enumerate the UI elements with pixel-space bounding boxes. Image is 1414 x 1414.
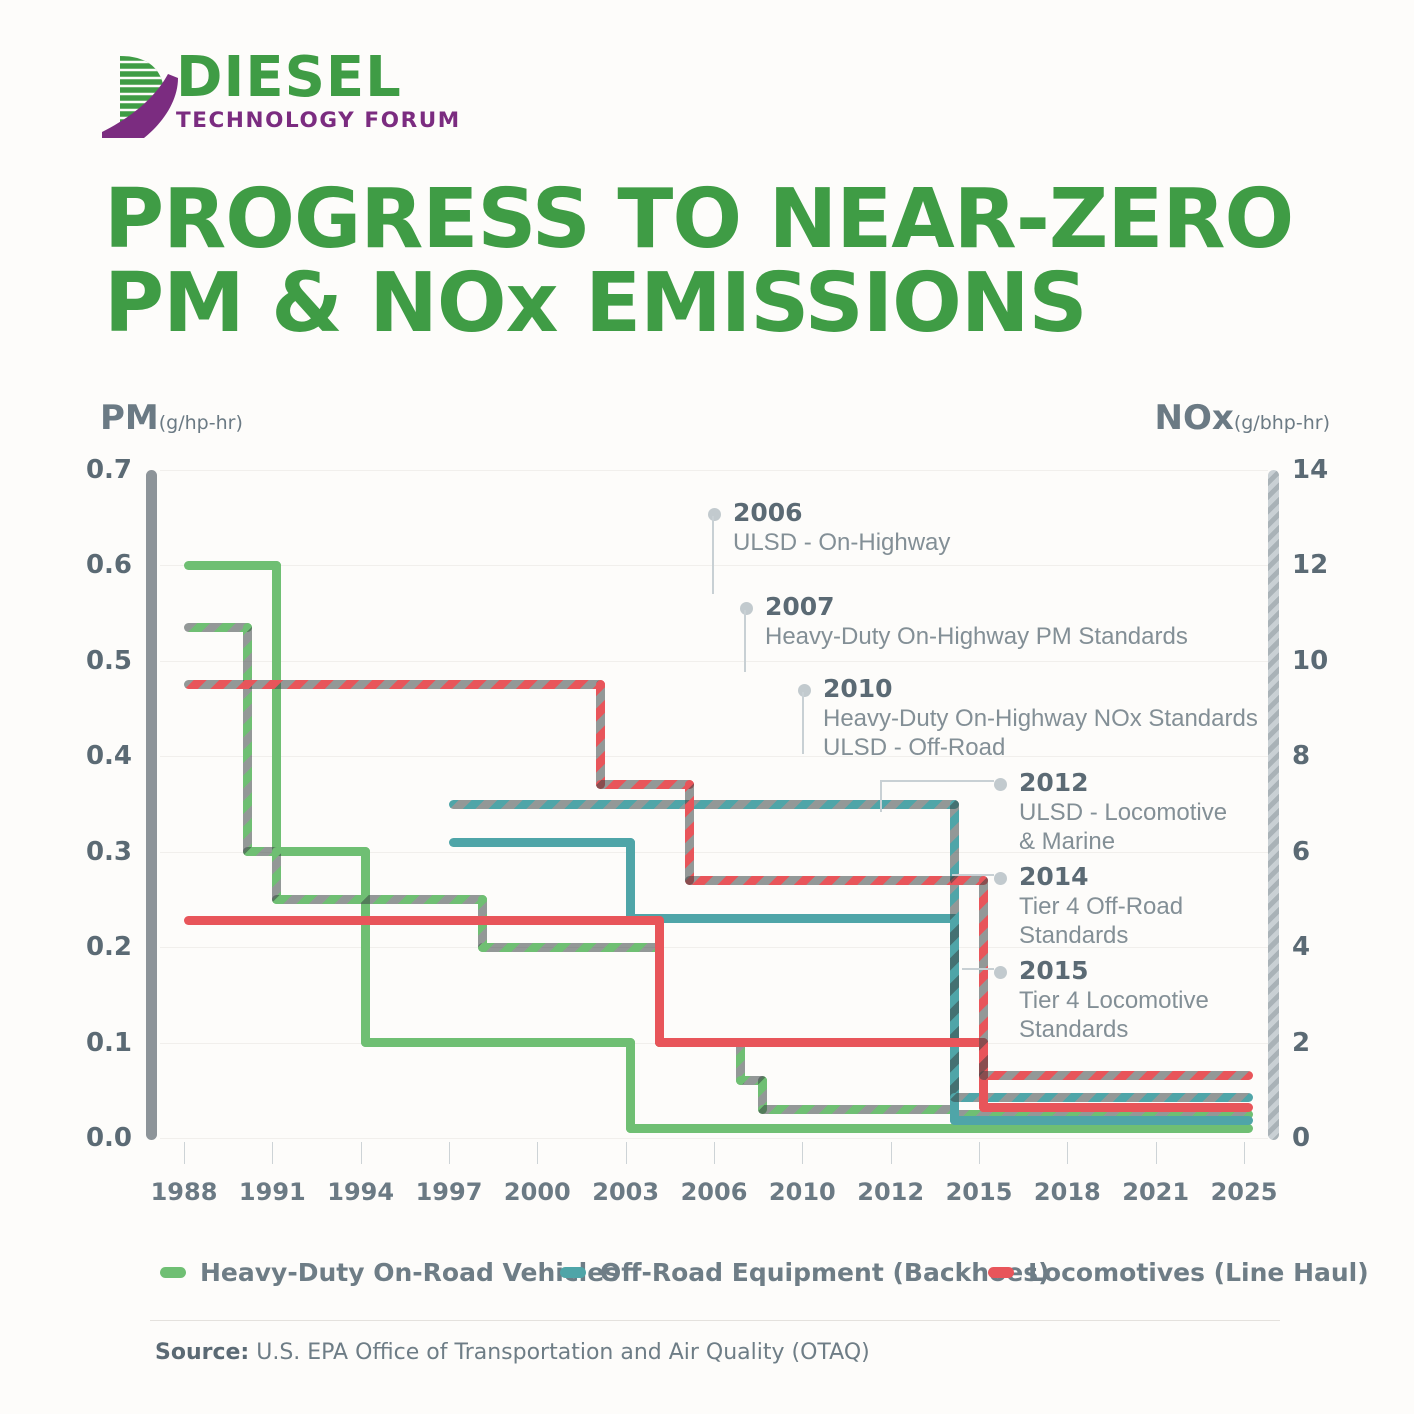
- x-tick-label: 1991: [239, 1178, 306, 1206]
- x-axis-tick: [1156, 1142, 1157, 1164]
- series-segment-horizontal: [655, 1038, 988, 1047]
- annotation-description: Heavy-Duty On-Highway PM Standards: [765, 622, 1188, 651]
- y-tick-label-right: 14: [1292, 455, 1328, 485]
- series-segment-horizontal: [626, 914, 959, 923]
- annotation-leader-line: [952, 874, 994, 876]
- series-segment-horizontal: [184, 680, 605, 689]
- brand-name-primary: DIESEL: [176, 50, 461, 106]
- title-line-1: PROGRESS TO NEAR-ZERO: [104, 172, 1293, 267]
- y-tick-label-right: 0: [1292, 1123, 1310, 1153]
- series-segment-horizontal: [184, 623, 252, 632]
- x-axis-tick: [1244, 1142, 1245, 1164]
- series-segment-horizontal: [979, 1071, 1253, 1080]
- x-tick-label: 1997: [416, 1178, 483, 1206]
- page-title: PROGRESS TO NEAR-ZERO PM & NOx EMISSIONS: [104, 178, 1334, 346]
- x-tick-label: 2018: [1034, 1178, 1101, 1206]
- diesel-logo-mark: [98, 52, 182, 138]
- y-tick-label-left: 0.4: [86, 741, 132, 771]
- y-axis-right: [1268, 470, 1279, 1140]
- series-segment-vertical: [626, 838, 635, 923]
- series-segment-horizontal: [184, 916, 664, 925]
- series-segment-horizontal: [184, 561, 281, 570]
- annotation-description-line: Heavy-Duty On-Highway NOx Standards: [823, 704, 1258, 733]
- footer-divider: [150, 1320, 1280, 1321]
- y-axis-left: [146, 470, 157, 1140]
- brand-logo: DIESEL TECHNOLOGY FORUM: [98, 48, 528, 144]
- x-axis-tick: [979, 1142, 980, 1164]
- annotation-leader-line: [712, 516, 714, 594]
- nox-axis-header: NOx(g/bhp-hr): [1155, 398, 1330, 438]
- x-axis-tick: [449, 1142, 450, 1164]
- source-note: Source: U.S. EPA Office of Transportatio…: [155, 1340, 870, 1365]
- legend-label: Locomotives (Line Haul): [1028, 1258, 1369, 1287]
- y-tick-label-left: 0.3: [86, 837, 132, 867]
- y-tick-label-left: 0.5: [86, 646, 132, 676]
- pm-axis-header: PM(g/hp-hr): [100, 398, 243, 438]
- x-tick-label: 2015: [946, 1178, 1013, 1206]
- legend-label: Off-Road Equipment (Backhoes): [600, 1258, 1050, 1287]
- annotation-description: ULSD - Locomotive& Marine: [1019, 798, 1227, 856]
- annotation-description: Tier 4 LocomotiveStandards: [1019, 986, 1209, 1044]
- series-segment-vertical: [272, 561, 281, 856]
- x-tick-label: 2006: [681, 1178, 748, 1206]
- y-tick-label-left: 0.0: [86, 1123, 132, 1153]
- gridline: [160, 470, 1268, 471]
- annotation-description: Tier 4 Off-RoadStandards: [1019, 892, 1183, 950]
- annotation-dot-icon: [798, 684, 811, 697]
- annotation-dot-icon: [994, 778, 1007, 791]
- series-segment-vertical: [655, 916, 664, 1047]
- x-axis-tick: [272, 1142, 273, 1164]
- gridline: [160, 661, 1268, 662]
- series-segment-horizontal: [979, 1103, 1253, 1112]
- y-tick-label-right: 4: [1292, 932, 1310, 962]
- x-axis-tick: [361, 1142, 362, 1164]
- annotation-year: 2015: [1019, 956, 1089, 985]
- legend-swatch-icon: [560, 1267, 586, 1278]
- series-segment-horizontal: [478, 943, 664, 952]
- series-segment-vertical: [685, 780, 694, 884]
- annotation-year: 2007: [765, 592, 835, 621]
- series-segment-horizontal: [758, 1105, 958, 1114]
- annotation-year: 2006: [733, 498, 803, 527]
- legend-item[interactable]: Heavy-Duty On-Road Vehicles: [160, 1258, 619, 1287]
- annotation-dot-icon: [740, 602, 753, 615]
- legend-item[interactable]: Off-Road Equipment (Backhoes): [560, 1258, 1050, 1287]
- annotation-dot-icon: [994, 966, 1007, 979]
- brand-name-secondary: TECHNOLOGY FORUM: [176, 109, 461, 133]
- series-segment-horizontal: [626, 1124, 1253, 1133]
- annotation-description-line: ULSD - Locomotive: [1019, 798, 1227, 827]
- x-tick-label: 2010: [769, 1178, 836, 1206]
- annotation-leader-line: [744, 610, 746, 672]
- source-text: U.S. EPA Office of Transportation and Ai…: [256, 1340, 870, 1365]
- annotation-description-line: Tier 4 Locomotive: [1019, 986, 1209, 1015]
- series-segment-horizontal: [361, 1038, 635, 1047]
- x-tick-label: 2021: [1122, 1178, 1189, 1206]
- x-tick-label: 2012: [857, 1178, 924, 1206]
- nox-label: NOx: [1155, 398, 1234, 438]
- annotation-description-line: & Marine: [1019, 827, 1227, 856]
- annotation-leader-line: [962, 968, 994, 970]
- x-tick-label: 1988: [151, 1178, 218, 1206]
- series-segment-vertical: [361, 847, 370, 1047]
- series-segment-horizontal: [449, 800, 959, 809]
- y-tick-label-right: 12: [1292, 550, 1328, 580]
- y-tick-label-right: 2: [1292, 1028, 1310, 1058]
- series-segment-horizontal: [449, 838, 635, 847]
- x-tick-label: 2025: [1211, 1178, 1278, 1206]
- y-tick-label-right: 8: [1292, 741, 1310, 771]
- y-tick-label-right: 10: [1292, 646, 1328, 676]
- nox-units: (g/bhp-hr): [1234, 412, 1330, 434]
- x-axis-tick: [626, 1142, 627, 1164]
- annotation-description-line: Heavy-Duty On-Highway PM Standards: [765, 622, 1188, 651]
- gridline: [160, 1138, 1268, 1139]
- annotation-description-line: Standards: [1019, 921, 1183, 950]
- annotation-description-line: Tier 4 Off-Road: [1019, 892, 1183, 921]
- series-segment-vertical: [243, 623, 252, 856]
- y-tick-label-left: 0.7: [86, 455, 132, 485]
- x-axis-tick: [184, 1142, 185, 1164]
- x-axis-tick: [1067, 1142, 1068, 1164]
- source-label: Source:: [155, 1340, 249, 1365]
- x-axis-tick: [802, 1142, 803, 1164]
- x-axis-tick: [891, 1142, 892, 1164]
- y-tick-label-left: 0.6: [86, 550, 132, 580]
- annotation-leader-line: [880, 780, 882, 812]
- series-segment-horizontal: [950, 1116, 1253, 1125]
- series-segment-vertical: [596, 680, 605, 789]
- annotation-description: ULSD - On-Highway: [733, 528, 950, 557]
- x-axis-tick: [714, 1142, 715, 1164]
- x-axis-tick: [537, 1142, 538, 1164]
- series-segment-horizontal: [596, 780, 693, 789]
- y-tick-label-left: 0.1: [86, 1028, 132, 1058]
- x-tick-label: 1994: [327, 1178, 394, 1206]
- annotation-dot-icon: [708, 508, 721, 521]
- legend-swatch-icon: [160, 1267, 186, 1278]
- title-line-2: PM & NOx EMISSIONS: [104, 262, 1334, 346]
- chart-legend: Heavy-Duty On-Road VehiclesOff-Road Equi…: [160, 1258, 1280, 1298]
- annotation-dot-icon: [994, 872, 1007, 885]
- series-segment-horizontal: [272, 847, 369, 856]
- annotation-year: 2012: [1019, 768, 1089, 797]
- annotation-year: 2010: [823, 674, 893, 703]
- pm-units: (g/hp-hr): [159, 412, 243, 434]
- series-segment-vertical: [950, 800, 959, 1102]
- gridline: [160, 565, 1268, 566]
- annotation-description-line: ULSD - On-Highway: [733, 528, 950, 557]
- y-tick-label-left: 0.2: [86, 932, 132, 962]
- series-segment-vertical: [626, 1038, 635, 1133]
- series-segment-horizontal: [685, 876, 959, 885]
- annotation-leader-line: [802, 692, 804, 754]
- series-segment-horizontal: [272, 895, 487, 904]
- series-segment-vertical: [979, 876, 988, 1081]
- annotation-description-line: ULSD - Off-Road: [823, 733, 1258, 762]
- y-tick-label-right: 6: [1292, 837, 1310, 867]
- annotation-leader-line: [880, 780, 994, 782]
- x-tick-label: 2003: [592, 1178, 659, 1206]
- series-segment-horizontal: [950, 1093, 1253, 1102]
- legend-swatch-icon: [988, 1267, 1014, 1278]
- annotation-description: Heavy-Duty On-Highway NOx StandardsULSD …: [823, 704, 1258, 762]
- pm-label: PM: [100, 398, 159, 438]
- annotation-description-line: Standards: [1019, 1015, 1209, 1044]
- x-tick-label: 2000: [504, 1178, 571, 1206]
- legend-label: Heavy-Duty On-Road Vehicles: [200, 1258, 619, 1287]
- annotation-year: 2014: [1019, 862, 1089, 891]
- legend-item[interactable]: Locomotives (Line Haul): [988, 1258, 1369, 1287]
